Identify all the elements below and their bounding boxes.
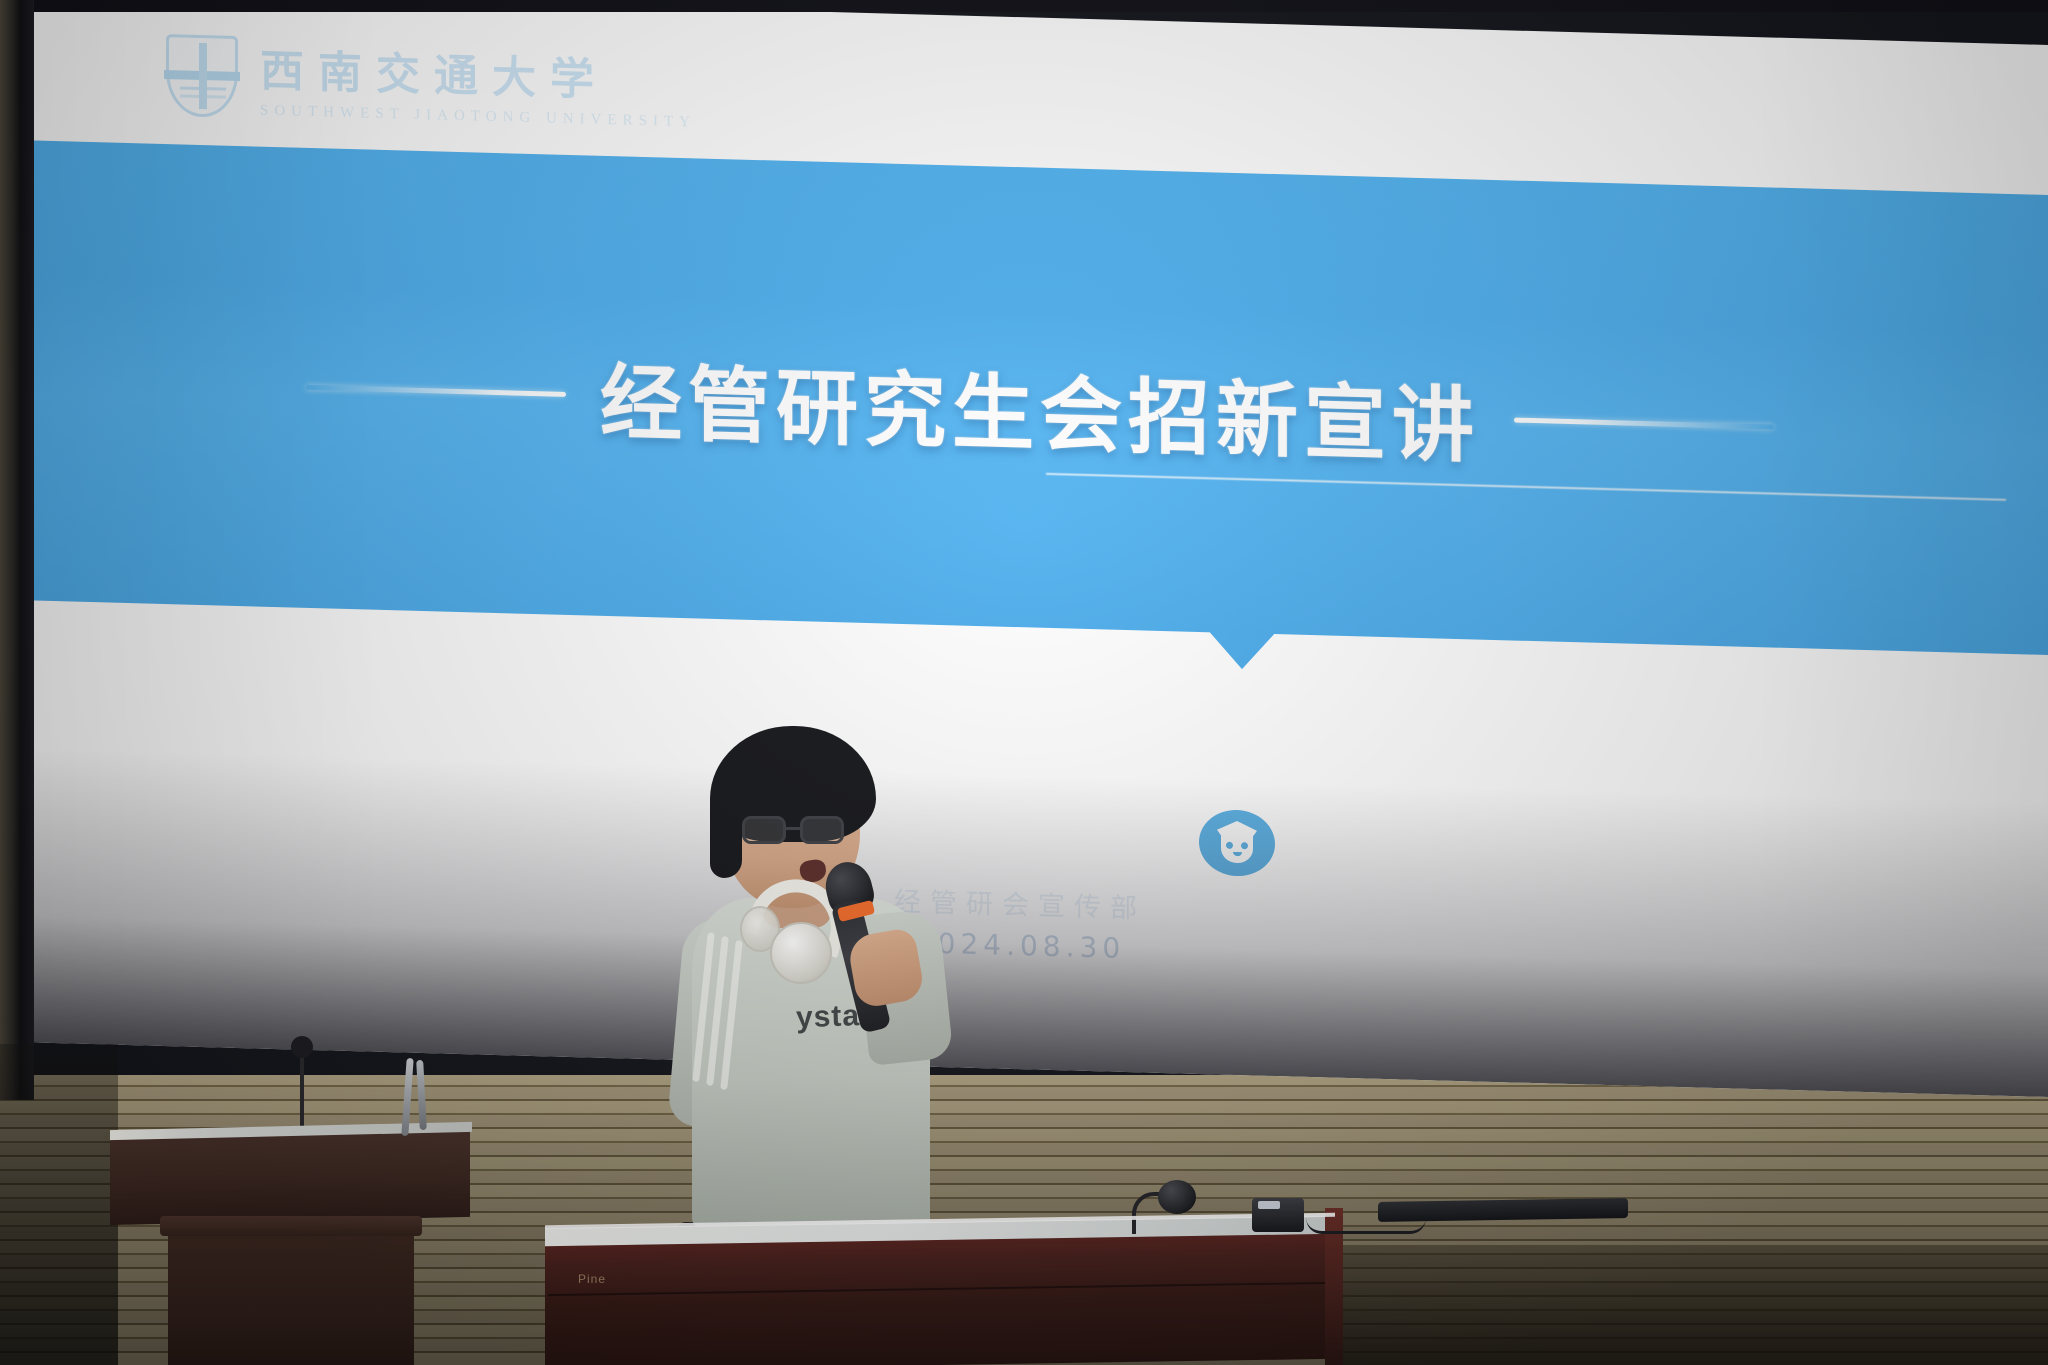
desk-control-box-led <box>1258 1201 1280 1209</box>
glasses-lens-right <box>800 816 844 844</box>
desk-microphone-head <box>1158 1180 1196 1214</box>
lectern-top <box>110 1129 470 1225</box>
table-front-panel <box>545 1231 1335 1365</box>
desk-cable <box>1306 1218 1426 1234</box>
lectern-microphone-head <box>291 1036 313 1058</box>
presentation-photo-scene: 西南交通大学 SOUTHWEST JIAOTONG UNIVERSITY 经管研… <box>0 0 2048 1365</box>
eyeglasses-icon <box>742 816 848 844</box>
headphone-earcup-front <box>770 922 832 984</box>
lectern-lip <box>160 1216 422 1236</box>
table-brand-label: Pine <box>578 1272 606 1286</box>
lectern-body <box>168 1218 414 1365</box>
lectern-microphone-stem <box>300 1045 304 1135</box>
floor-shadow-right <box>1335 1245 2048 1365</box>
floor-shadow-left <box>0 1044 118 1365</box>
speaker-hair-side <box>710 786 742 878</box>
glasses-lens-left <box>742 816 786 844</box>
